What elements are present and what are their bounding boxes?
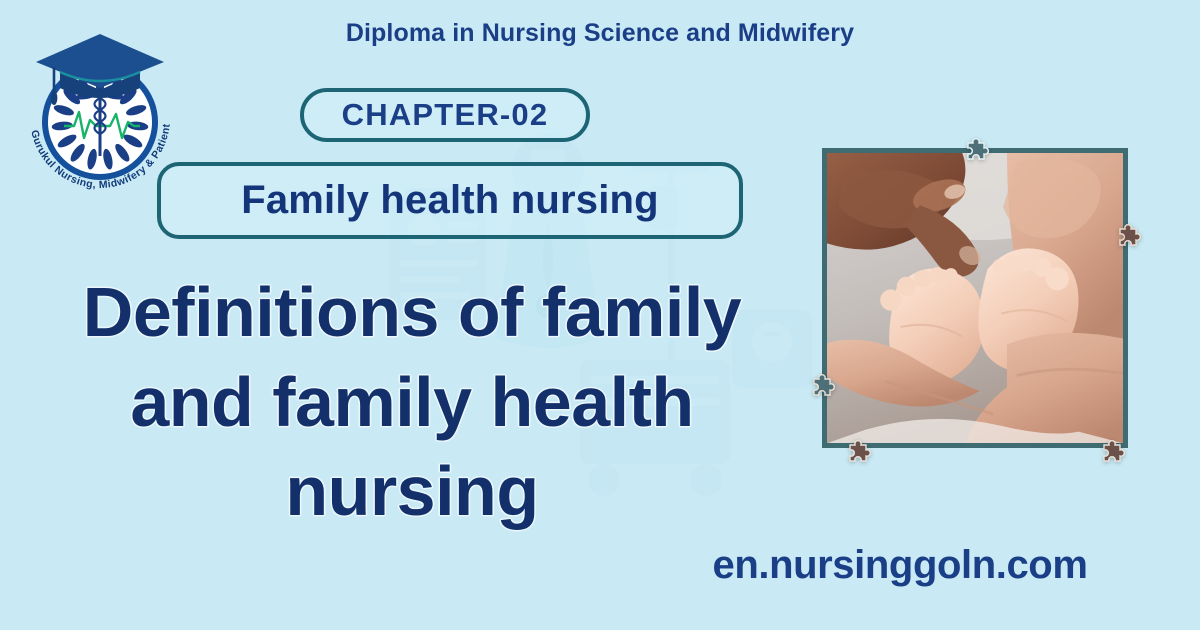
main-title-line-3: nursing xyxy=(6,447,818,537)
chapter-badge: CHAPTER-02 xyxy=(300,88,590,142)
chapter-badge-label: CHAPTER-02 xyxy=(342,97,549,133)
puzzle-pin-icon-left xyxy=(808,370,838,400)
photo-container xyxy=(822,148,1128,448)
main-title: Definitions of family and family health … xyxy=(6,268,818,537)
website-url: en.nursinggoln.com xyxy=(640,543,1160,588)
photo-frame xyxy=(822,148,1128,448)
main-title-line-1: Definitions of family xyxy=(6,268,818,358)
banner-root: Gurukul Nursing, Midwifery & Patient Car… xyxy=(0,0,1200,630)
puzzle-pin-icon-right xyxy=(1114,220,1144,250)
puzzle-pin-icon-top xyxy=(962,134,992,164)
baby-feet-photo xyxy=(827,153,1123,443)
puzzle-pin-icon-bottom-right xyxy=(1098,436,1128,466)
main-title-line-2: and family health xyxy=(6,358,818,448)
course-title: Diploma in Nursing Science and Midwifery xyxy=(0,19,1200,48)
puzzle-pin-icon-bottom-left xyxy=(844,436,874,466)
topic-badge: Family health nursing xyxy=(157,162,743,239)
topic-badge-label: Family health nursing xyxy=(241,178,659,223)
